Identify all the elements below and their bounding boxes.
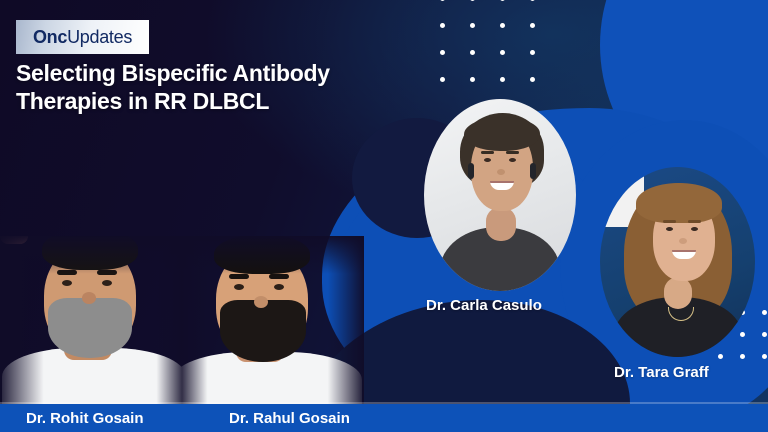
page-title-line-2: Therapies in RR DLBCL [16,87,416,115]
person-rahul-gosain [0,236,28,244]
dot [470,77,475,82]
dot [440,77,445,82]
eye-right [274,284,284,290]
caption-carla-casulo: Dr. Carla Casulo [426,297,542,314]
hair-front [636,183,722,223]
logo-wordmark-bold: Onc [33,27,67,47]
bottom-name-bar: Dr. Rohit Gosain Dr. Rahul Gosain [0,404,768,432]
eye-left [62,280,72,286]
hair [214,236,310,274]
dot [530,77,535,82]
eyebrow-right [688,220,701,223]
eye-left [666,227,673,231]
eyebrow-left [663,220,676,223]
dot [470,23,475,28]
caption-rohit-gosain: Dr. Rohit Gosain [26,410,144,427]
dot [500,50,505,55]
dot [762,332,767,337]
portrait-carla-casulo [424,99,576,291]
dot [500,23,505,28]
mouth [0,236,28,244]
dot [762,310,767,315]
page-title: Selecting Bispecific Antibody Therapies … [16,59,416,115]
logo-wordmark-regular: Updates [67,27,132,47]
earring-left [468,163,474,179]
portrait-tara-graff [600,167,755,357]
neck [486,207,516,241]
beard [220,300,306,362]
dot [530,0,535,1]
caption-tara-graff: Dr. Tara Graff [614,364,709,381]
dot-grid-top [440,0,560,104]
eyebrow-left [57,270,77,275]
nose [497,169,505,175]
face-illustration [600,167,755,357]
page-title-line-1: Selecting Bispecific Antibody [16,59,416,87]
dot [500,77,505,82]
eye-left [484,158,491,162]
caption-rahul-gosain: Dr. Rahul Gosain [229,410,350,427]
hair [42,236,138,270]
neck [664,277,692,309]
eye-right [102,280,112,286]
eyebrow-right [269,274,289,279]
nose [679,238,687,244]
nose [254,296,268,308]
hair-front [464,117,540,151]
eye-right [691,227,698,231]
dot [530,23,535,28]
logo-wordmark: OncUpdates [33,27,132,48]
eyebrow-left [481,151,494,154]
dot [762,354,767,359]
dot [440,0,445,1]
face-illustration [424,99,576,291]
photo-gosain-brothers [0,236,364,408]
dot [530,50,535,55]
dot [440,50,445,55]
eye-right [509,158,516,162]
dot [470,50,475,55]
eyebrow-right [97,270,117,275]
dot [470,0,475,1]
nose [82,292,96,304]
eyebrow-left [229,274,249,279]
thumbnail-canvas: OncUpdates Selecting Bispecific Antibody… [0,0,768,432]
dot [440,23,445,28]
dot [500,0,505,1]
beard [48,298,132,358]
oncupdates-logo[interactable]: OncUpdates [16,20,149,54]
eye-left [234,284,244,290]
eyebrow-right [506,151,519,154]
earring-right [530,163,536,179]
